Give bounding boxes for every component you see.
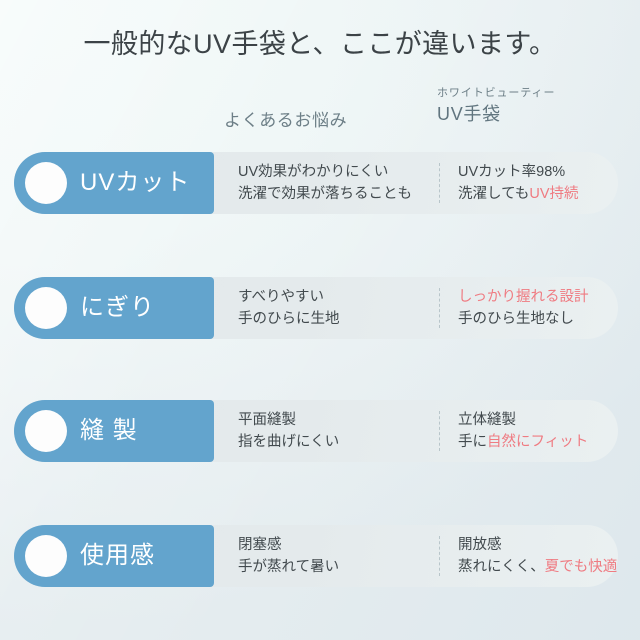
- row-solution-text: UVカット率98% 洗濯してもUV持続: [458, 161, 579, 205]
- problem-line-2: 手のひらに生地: [238, 308, 340, 330]
- solution-line-2: 蒸れにくく、夏でも快適: [458, 556, 617, 578]
- row-badge: UVカット: [14, 152, 214, 214]
- brand-main-label: UV手袋: [437, 102, 555, 126]
- row-badge-label: にぎり: [80, 294, 155, 322]
- column-heading-problem: よくあるお悩み: [224, 110, 347, 132]
- solution-line-2-plain: 手に: [458, 434, 487, 450]
- row-badge: 縫 製: [14, 400, 214, 462]
- solution-line-2-plain: 洗濯しても: [458, 186, 529, 202]
- problem-line-2: 指を曲げにくい: [238, 431, 339, 453]
- row-problem-text: UV効果がわかりにくい 洗濯で効果が落ちることも: [238, 161, 412, 205]
- solution-line-2: 手のひら生地なし: [458, 308, 589, 330]
- row-badge-label: 縫 製: [80, 417, 138, 445]
- row-solution-text: 開放感 蒸れにくく、夏でも快適: [458, 534, 617, 578]
- row-badge-label: UVカット: [80, 169, 190, 197]
- problem-line-1: すべりやすい: [238, 286, 340, 308]
- row-problem-text: 平面縫製 指を曲げにくい: [238, 409, 339, 453]
- row-divider: [439, 163, 440, 203]
- circle-icon: [25, 287, 67, 329]
- comparison-row: UVカット UV効果がわかりにくい 洗濯で効果が落ちることも UVカット率98%…: [14, 152, 618, 214]
- solution-line-2: 手に自然にフィット: [458, 431, 588, 453]
- solution-line-1-emphasis: しっかり握れる設計: [458, 289, 589, 305]
- solution-line-2-emphasis: 自然にフィット: [487, 434, 588, 450]
- row-solution-text: 立体縫製 手に自然にフィット: [458, 409, 588, 453]
- solution-line-2-emphasis: UV持続: [529, 186, 578, 202]
- solution-line-1-plain: UVカット率98%: [458, 164, 565, 180]
- solution-line-1: しっかり握れる設計: [458, 286, 589, 308]
- solution-line-1: 立体縫製: [458, 409, 588, 431]
- solution-line-1-plain: 開放感: [458, 537, 502, 553]
- row-solution-text: しっかり握れる設計 手のひら生地なし: [458, 286, 589, 330]
- problem-line-2: 洗濯で効果が落ちることも: [238, 183, 412, 205]
- circle-icon: [25, 162, 67, 204]
- problem-line-1: UV効果がわかりにくい: [238, 161, 412, 183]
- solution-line-1: UVカット率98%: [458, 161, 579, 183]
- comparison-row: 縫 製 平面縫製 指を曲げにくい 立体縫製 手に自然にフィット: [14, 400, 618, 462]
- solution-line-2-emphasis: 夏でも快適: [545, 559, 618, 575]
- problem-line-2: 手が蒸れて暑い: [238, 556, 339, 578]
- row-badge: にぎり: [14, 277, 214, 339]
- column-headings: よくあるお悩み ホワイトビューティー UV手袋: [0, 86, 640, 144]
- solution-line-1-plain: 立体縫製: [458, 412, 516, 428]
- problem-line-1: 平面縫製: [238, 409, 339, 431]
- row-divider: [439, 536, 440, 576]
- circle-icon: [25, 410, 67, 452]
- brand-sub-label: ホワイトビューティー: [437, 86, 555, 101]
- row-badge: 使用感: [14, 525, 214, 587]
- row-divider: [439, 288, 440, 328]
- page-title: 一般的なUV手袋と、ここが違います。: [0, 27, 640, 61]
- column-heading-solution: ホワイトビューティー UV手袋: [437, 86, 555, 126]
- comparison-row: にぎり すべりやすい 手のひらに生地 しっかり握れる設計 手のひら生地なし: [14, 277, 618, 339]
- solution-line-2: 洗濯してもUV持続: [458, 183, 579, 205]
- circle-icon: [25, 535, 67, 577]
- row-badge-label: 使用感: [80, 542, 155, 570]
- row-problem-text: 閉塞感 手が蒸れて暑い: [238, 534, 339, 578]
- comparison-row: 使用感 閉塞感 手が蒸れて暑い 開放感 蒸れにくく、夏でも快適: [14, 525, 618, 587]
- solution-line-2-plain: 蒸れにくく、: [458, 559, 545, 575]
- solution-line-2-plain: 手のひら生地なし: [458, 311, 574, 327]
- row-divider: [439, 411, 440, 451]
- solution-line-1: 開放感: [458, 534, 617, 556]
- comparison-infographic: 一般的なUV手袋と、ここが違います。 よくあるお悩み ホワイトビューティー UV…: [0, 0, 640, 640]
- problem-line-1: 閉塞感: [238, 534, 339, 556]
- row-problem-text: すべりやすい 手のひらに生地: [238, 286, 340, 330]
